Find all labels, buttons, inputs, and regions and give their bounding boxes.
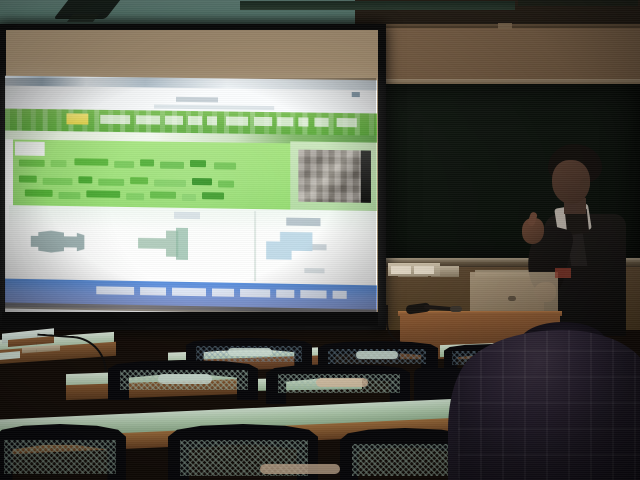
chair-handle	[228, 348, 272, 356]
slide-label	[312, 244, 326, 250]
slide-text-line	[150, 191, 176, 198]
slide-photo-noise	[298, 150, 369, 203]
slide-text-line	[19, 175, 37, 182]
projection-screen-frame	[0, 24, 386, 330]
slide-text-line	[114, 161, 134, 168]
slide-text-line	[78, 176, 92, 183]
slide-header-text	[176, 97, 218, 103]
chair-handle	[260, 464, 340, 474]
slide-active-tab	[66, 113, 88, 124]
slide-text-line	[19, 159, 45, 166]
projected-slide	[5, 76, 377, 320]
chair-handle	[316, 378, 368, 387]
slide-text-line	[214, 162, 236, 169]
slide-label	[174, 212, 200, 219]
slide-nav-item	[337, 118, 357, 127]
chair-handle	[158, 374, 212, 384]
slide-footer-text-line	[172, 288, 206, 297]
slide-content	[5, 76, 377, 320]
slide-text-line	[25, 189, 53, 196]
slide-content-panel	[13, 140, 290, 210]
slide-text-line	[140, 159, 154, 166]
slide-text-line	[126, 193, 144, 200]
foreground-person-plaid-jacket	[458, 330, 640, 480]
podium-knob	[508, 296, 516, 301]
slide-nav-item	[254, 117, 272, 126]
lecture-hall-photo	[0, 0, 640, 480]
slide-nav-item	[188, 116, 202, 125]
slide-footer-text-line	[300, 290, 326, 299]
slide-text-line	[74, 158, 108, 165]
slide-footer-text-line	[212, 288, 234, 296]
microphone-head-icon	[450, 306, 462, 312]
chair-mesh-back	[4, 440, 116, 474]
curtain-rail-bracket	[498, 23, 512, 29]
slide-nav-item	[226, 116, 248, 125]
slide-text-line	[98, 179, 124, 186]
slide-text-line	[160, 162, 184, 169]
slide-nav-item	[298, 117, 308, 126]
slide-text-line	[59, 192, 81, 199]
chair-handle	[356, 351, 398, 359]
slide-header-corner-mark	[352, 92, 360, 97]
slide-label	[304, 268, 324, 273]
slide-text-line	[130, 177, 148, 184]
podium-red-object	[555, 268, 571, 278]
slide-arrow-icon-bar	[176, 228, 188, 260]
slide-text-line	[86, 190, 120, 198]
slide-label	[286, 218, 320, 227]
slide-content-badge	[15, 142, 45, 156]
slide-text-line	[218, 180, 234, 187]
slide-footer-text-line	[140, 287, 166, 295]
screen-bottom-edge	[2, 312, 378, 326]
slide-nav-item	[207, 116, 217, 125]
chair-mesh-back	[352, 444, 460, 476]
slide-nav-item	[277, 117, 293, 126]
ceiling-vent	[240, 1, 515, 10]
slide-footer-text-line	[96, 286, 134, 295]
presenter-ear	[580, 178, 590, 191]
slide-text-line	[192, 178, 212, 185]
ceiling-vent-secondary	[518, 0, 638, 6]
podium-back-panel	[470, 272, 558, 314]
slide-nav-item	[165, 116, 183, 125]
slide-nav-item	[136, 115, 160, 124]
slide-footer-text-line	[276, 290, 294, 298]
slide-text-line	[202, 192, 224, 199]
slide-panel-divider	[254, 211, 256, 281]
slide-text-line	[43, 178, 73, 185]
slide-text-line	[190, 160, 206, 167]
slide-footer-text-line	[333, 291, 347, 299]
slide-nav-item	[314, 118, 328, 127]
slide-text-line	[51, 160, 67, 167]
wall-outlet-socket	[391, 266, 411, 274]
slide-text-line	[182, 194, 196, 201]
slide-photo-edge	[361, 150, 371, 202]
slide-footer-text-line	[240, 289, 270, 298]
wall-outlet-socket	[414, 266, 434, 274]
slide-text-line	[154, 179, 186, 186]
slide-nav-item	[100, 115, 130, 124]
